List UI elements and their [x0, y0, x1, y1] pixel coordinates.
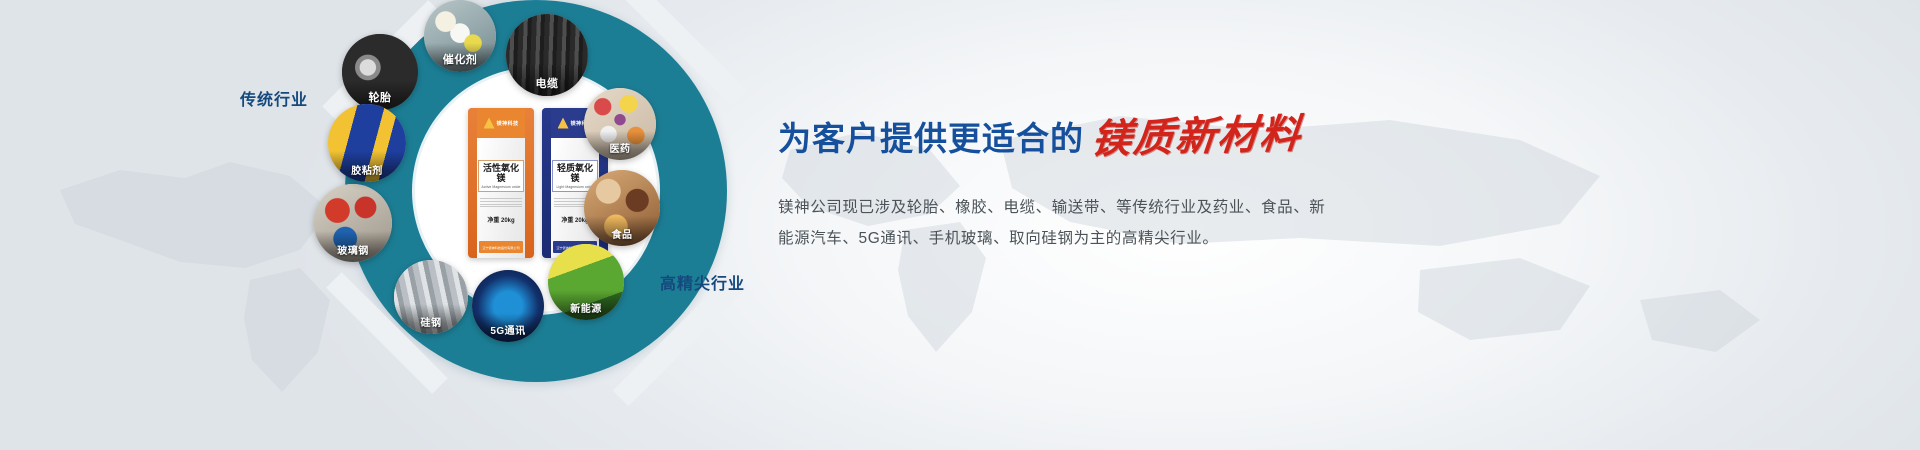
banner-text-block: 为客户提供更适合的 镁质新材料 镁神公司现已涉及轮胎、橡胶、电缆、输送带、等传统… — [778, 104, 1778, 254]
node-label: 硅钢 — [394, 304, 468, 334]
headline: 为客户提供更适合的 镁质新材料 — [778, 104, 1778, 162]
bag-side-stripe — [468, 108, 477, 258]
product-weight: 净重 20kg — [487, 215, 514, 224]
node-label: 电缆 — [506, 63, 588, 96]
industry-circle-infographic: 镁神科技 活性氧化镁 Active Magnesium oxide 净重 20k… — [300, 0, 770, 450]
bag-company-band: 辽宁镁神科技股份有限公司 — [479, 241, 523, 253]
banner-paragraph: 镁神公司现已涉及轮胎、橡胶、电缆、输送带、等传统行业及药业、食品、新 能源汽车、… — [778, 192, 1778, 254]
bag-side-stripe — [542, 108, 551, 258]
paragraph-line-2: 能源汽车、5G通讯、手机玻璃、取向硅钢为主的高精尖行业。 — [778, 223, 1778, 254]
industry-node-adhesive[interactable]: 胶粘剂 — [328, 104, 406, 182]
node-label: 玻璃钢 — [314, 231, 392, 262]
node-label: 胶粘剂 — [328, 151, 406, 182]
bag-side-stripe — [525, 108, 534, 258]
product-bag-active-magnesium-oxide: 镁神科技 活性氧化镁 Active Magnesium oxide 净重 20k… — [468, 108, 534, 258]
product-name-box: 活性氧化镁 Active Magnesium oxide — [478, 160, 524, 192]
node-label: 催化剂 — [424, 43, 496, 72]
product-name-en: Active Magnesium oxide — [479, 185, 523, 189]
group-label-traditional-industries: 传统行业 — [240, 86, 308, 110]
industry-node-5g[interactable]: 5G通讯 — [472, 270, 544, 342]
node-label: 食品 — [584, 216, 660, 246]
industry-node-catalyst[interactable]: 催化剂 — [424, 0, 496, 72]
headline-red-calligraphy: 镁质新材料 — [1089, 101, 1305, 165]
mountain-logo-icon — [558, 118, 569, 129]
product-name-cn: 活性氧化镁 — [479, 164, 523, 184]
industry-node-cable[interactable]: 电缆 — [506, 14, 588, 96]
industry-node-new-energy[interactable]: 新能源 — [548, 244, 624, 320]
group-label-high-precision-industries: 高精尖行业 — [660, 270, 1660, 294]
headline-blue-text: 为客户提供更适合的 — [778, 112, 1084, 160]
industry-node-fiberglass[interactable]: 玻璃钢 — [314, 184, 392, 262]
node-label: 新能源 — [548, 290, 624, 320]
brand-logo: 镁神科技 — [484, 118, 519, 129]
industry-node-tire[interactable]: 轮胎 — [342, 34, 418, 110]
industry-node-food[interactable]: 食品 — [584, 170, 660, 246]
banner-stage: 镁神科技 活性氧化镁 Active Magnesium oxide 净重 20k… — [0, 0, 1920, 450]
industry-node-silicon-steel[interactable]: 硅钢 — [394, 260, 468, 334]
industry-node-pharmaceutical[interactable]: 医药 — [584, 88, 656, 160]
company-name: 辽宁镁神科技股份有限公司 — [482, 245, 519, 250]
node-label: 5G通讯 — [472, 313, 544, 342]
paragraph-line-1: 镁神公司现已涉及轮胎、橡胶、电缆、输送带、等传统行业及药业、食品、新 — [778, 192, 1778, 223]
brand-name: 镁神科技 — [497, 120, 519, 127]
bag-spec-lines — [480, 197, 522, 209]
node-label: 医药 — [584, 131, 656, 160]
mountain-logo-icon — [484, 118, 495, 129]
